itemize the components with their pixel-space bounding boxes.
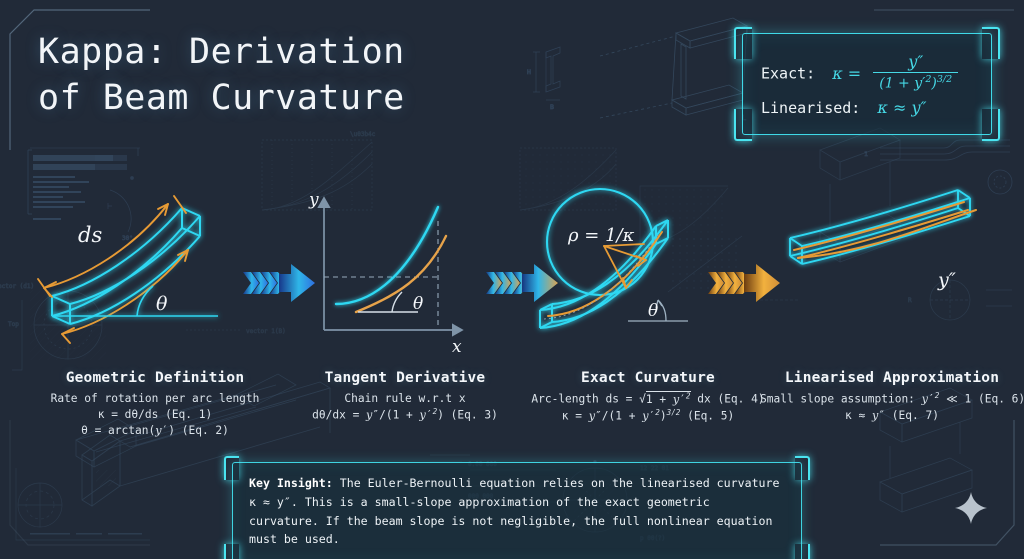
curve-y-of-x — [336, 207, 438, 304]
title-line-1: Kappa: Derivation — [38, 32, 405, 72]
flow-arrow-1 — [243, 258, 319, 308]
label-axis-y: y — [308, 190, 319, 210]
caption-tangent-derivative: Tangent Derivative Chain rule w.r.t x dθ… — [276, 370, 534, 424]
curved-beam-wireframe — [52, 208, 200, 324]
svg-text:B: B — [550, 103, 554, 111]
formula-exact-fraction: y″ (1 + y′2)3/2 — [873, 52, 958, 92]
diagram-linearised-approximation: y″ — [772, 178, 1008, 358]
caption-line-2-0: Chain rule w.r.t x — [276, 391, 534, 407]
bracket-corner-bottom-left — [734, 109, 752, 141]
bg-ibeam-top: L — [600, 18, 747, 122]
caption-linearised-approximation: Linearised Approximation Small slope ass… — [760, 370, 1024, 424]
insight-bracket-bottom-right — [795, 544, 810, 559]
label-axis-x: x — [452, 337, 462, 357]
formula-exact-label: Exact: — [761, 65, 815, 83]
label-theta-2: θ — [413, 294, 423, 314]
title-line-2: of Beam Curvature — [38, 78, 405, 118]
flow-arrow-2 — [486, 258, 562, 308]
caption-line-4-1: κ ≈ y″ (Eq. 7) — [760, 408, 1024, 424]
bg-circle-bottom-left — [16, 468, 150, 540]
formula-exact-kappa: κ = — [832, 64, 861, 83]
diagram-geometric-definition: ds θ — [22, 178, 258, 358]
bracket-corner-top-right — [982, 27, 1000, 59]
caption-title-3: Exact Curvature — [512, 370, 784, 386]
formula-linearised-label: Linearised: — [761, 99, 860, 117]
caption-line-1-1: κ = dθ/ds (Eq. 1) — [20, 407, 290, 423]
tangent-line — [356, 236, 446, 312]
svg-text:H: H — [527, 68, 531, 76]
caption-title-1: Geometric Definition — [20, 370, 290, 386]
insight-bracket-top-right — [795, 456, 810, 480]
bracket-corner-top-left — [734, 27, 752, 59]
flow-arrow-3 — [708, 258, 784, 308]
theta-angle-guides — [52, 286, 218, 316]
label-theta-3: θ — [648, 301, 658, 321]
label-ds: ds — [78, 223, 102, 247]
key-insight-panel: Key Insight: The Euler-Bernoulli equatio… — [232, 462, 802, 559]
formula-exact-denominator: (1 + y′2)3/2 — [873, 73, 958, 92]
axes — [324, 198, 462, 330]
formula-linearised-expr: κ ≈ y″ — [877, 98, 926, 117]
formula-exact-row: Exact: κ = y″ (1 + y′2)3/2 — [761, 52, 958, 92]
infographic-canvas: L H B — [0, 0, 1024, 559]
insight-bracket-bottom-left — [224, 544, 239, 559]
caption-exact-curvature: Exact Curvature Arc-length ds = √1 + y′2… — [512, 370, 784, 424]
caption-title-2: Tangent Derivative — [276, 370, 534, 386]
label-rho: ρ = 1/κ — [567, 225, 635, 246]
gemini-sparkle-icon — [954, 491, 988, 525]
caption-line-4-0: Small slope assumption: y′2 ≪ 1 (Eq. 6) — [760, 391, 1024, 408]
caption-line-3-0: Arc-length ds = √1 + y′2 dx (Eq. 4) — [512, 391, 784, 408]
formula-linearised-row: Linearised: κ ≈ y″ — [761, 98, 926, 117]
svg-text:Top: Top — [8, 321, 19, 328]
caption-geometric-definition: Geometric Definition Rate of rotation pe… — [20, 370, 290, 439]
insight-bracket-top-left — [224, 456, 239, 480]
caption-line-1-2: θ = arctan(y′) (Eq. 2) — [20, 423, 290, 439]
formula-card: Exact: κ = y″ (1 + y′2)3/2 Linearised: κ… — [742, 33, 992, 135]
caption-line-3-1: κ = y″/(1 + y′2)3/2 (Eq. 5) — [512, 408, 784, 425]
bracket-corner-bottom-right — [982, 109, 1000, 141]
insight-label: Key Insight: — [249, 476, 333, 490]
theta-angle-marker — [358, 292, 418, 312]
caption-title-4: Linearised Approximation — [760, 370, 1024, 386]
insight-text: Key Insight: The Euler-Bernoulli equatio… — [249, 474, 785, 549]
bg-ibeam-section: H B — [527, 47, 560, 111]
caption-line-1-0: Rate of rotation per arc length — [20, 391, 290, 407]
caption-line-2-1: dθ/dx = y″/(1 + y′2) (Eq. 3) — [276, 407, 534, 424]
label-y-double-prime: y″ — [937, 269, 956, 291]
svg-text:1: 1 — [864, 150, 868, 158]
page-title: Kappa: Derivation of Beam Curvature — [38, 29, 405, 121]
svg-text:\u03b4c: \u03b4c — [350, 131, 376, 138]
label-theta-1: θ — [156, 293, 168, 315]
formula-exact-numerator: y″ — [873, 52, 958, 73]
